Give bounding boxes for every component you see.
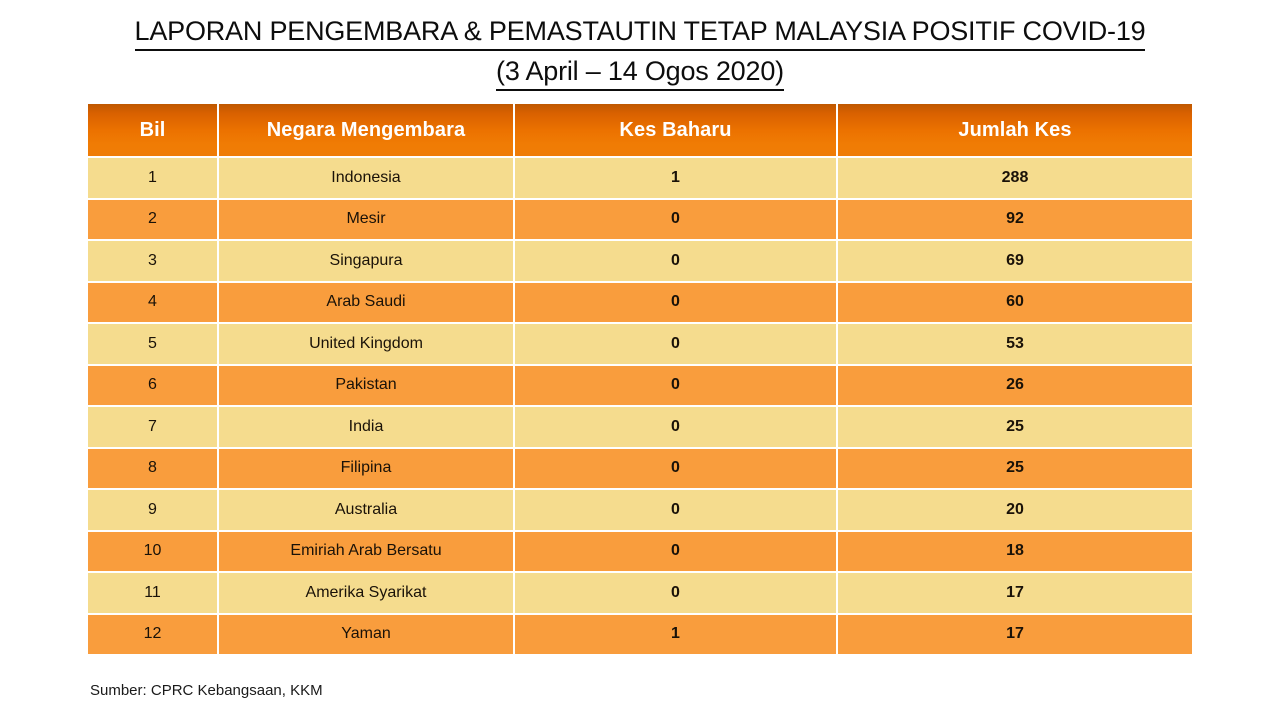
cell-negara: Filipina xyxy=(219,447,515,489)
cell-jumlah: 92 xyxy=(838,198,1192,240)
cell-negara: United Kingdom xyxy=(219,322,515,364)
cell-baharu: 0 xyxy=(515,571,838,613)
table-row: 7India025 xyxy=(88,405,1192,447)
table-header-row: Bil Negara Mengembara Kes Baharu Jumlah … xyxy=(88,104,1192,156)
cell-baharu: 0 xyxy=(515,239,838,281)
cell-negara: Emiriah Arab Bersatu xyxy=(219,530,515,572)
cell-baharu: 0 xyxy=(515,281,838,323)
cell-baharu: 0 xyxy=(515,447,838,489)
cell-jumlah: 25 xyxy=(838,405,1192,447)
table-row: 11Amerika Syarikat017 xyxy=(88,571,1192,613)
page-title: LAPORAN PENGEMBARA & PEMASTAUTIN TETAP M… xyxy=(0,14,1280,91)
cell-bil: 5 xyxy=(88,322,219,364)
cell-jumlah: 26 xyxy=(838,364,1192,406)
table-row: 10Emiriah Arab Bersatu018 xyxy=(88,530,1192,572)
cell-bil: 6 xyxy=(88,364,219,406)
cell-bil: 7 xyxy=(88,405,219,447)
source-note: Sumber: CPRC Kebangsaan, KKM xyxy=(90,682,323,699)
cell-jumlah: 288 xyxy=(838,156,1192,198)
cell-bil: 4 xyxy=(88,281,219,323)
column-header-baharu: Kes Baharu xyxy=(515,104,838,156)
table-header: Bil Negara Mengembara Kes Baharu Jumlah … xyxy=(88,104,1192,156)
column-header-jumlah: Jumlah Kes xyxy=(838,104,1192,156)
cell-baharu: 1 xyxy=(515,613,838,655)
cell-bil: 8 xyxy=(88,447,219,489)
cell-jumlah: 17 xyxy=(838,613,1192,655)
cell-bil: 3 xyxy=(88,239,219,281)
column-header-negara: Negara Mengembara xyxy=(219,104,515,156)
table-row: 9Australia020 xyxy=(88,488,1192,530)
table-row: 6Pakistan026 xyxy=(88,364,1192,406)
cell-baharu: 0 xyxy=(515,488,838,530)
travellers-cases-table: Bil Negara Mengembara Kes Baharu Jumlah … xyxy=(88,104,1192,654)
cell-negara: India xyxy=(219,405,515,447)
table-row: 1Indonesia1288 xyxy=(88,156,1192,198)
cell-negara: Arab Saudi xyxy=(219,281,515,323)
cell-jumlah: 20 xyxy=(838,488,1192,530)
cell-jumlah: 25 xyxy=(838,447,1192,489)
cell-baharu: 1 xyxy=(515,156,838,198)
table-row: 2Mesir092 xyxy=(88,198,1192,240)
cell-bil: 9 xyxy=(88,488,219,530)
cell-bil: 12 xyxy=(88,613,219,655)
page-title-line-1: LAPORAN PENGEMBARA & PEMASTAUTIN TETAP M… xyxy=(135,14,1146,51)
table-body: 1Indonesia12882Mesir0923Singapura0694Ara… xyxy=(88,156,1192,654)
cell-jumlah: 53 xyxy=(838,322,1192,364)
cell-negara: Indonesia xyxy=(219,156,515,198)
cell-baharu: 0 xyxy=(515,198,838,240)
cell-negara: Singapura xyxy=(219,239,515,281)
cell-bil: 11 xyxy=(88,571,219,613)
table-row: 12Yaman117 xyxy=(88,613,1192,655)
cell-negara: Yaman xyxy=(219,613,515,655)
cell-baharu: 0 xyxy=(515,405,838,447)
cell-jumlah: 18 xyxy=(838,530,1192,572)
cell-bil: 10 xyxy=(88,530,219,572)
cell-jumlah: 60 xyxy=(838,281,1192,323)
cell-jumlah: 17 xyxy=(838,571,1192,613)
column-header-bil: Bil xyxy=(88,104,219,156)
cell-bil: 2 xyxy=(88,198,219,240)
cell-baharu: 0 xyxy=(515,322,838,364)
cell-negara: Australia xyxy=(219,488,515,530)
cell-baharu: 0 xyxy=(515,530,838,572)
cell-negara: Mesir xyxy=(219,198,515,240)
cell-baharu: 0 xyxy=(515,364,838,406)
cell-negara: Amerika Syarikat xyxy=(219,571,515,613)
cell-bil: 1 xyxy=(88,156,219,198)
table-row: 4Arab Saudi060 xyxy=(88,281,1192,323)
page-title-line-2: (3 April – 14 Ogos 2020) xyxy=(496,54,784,91)
cell-negara: Pakistan xyxy=(219,364,515,406)
table-row: 5United Kingdom053 xyxy=(88,322,1192,364)
table-row: 3Singapura069 xyxy=(88,239,1192,281)
table-row: 8Filipina025 xyxy=(88,447,1192,489)
cell-jumlah: 69 xyxy=(838,239,1192,281)
